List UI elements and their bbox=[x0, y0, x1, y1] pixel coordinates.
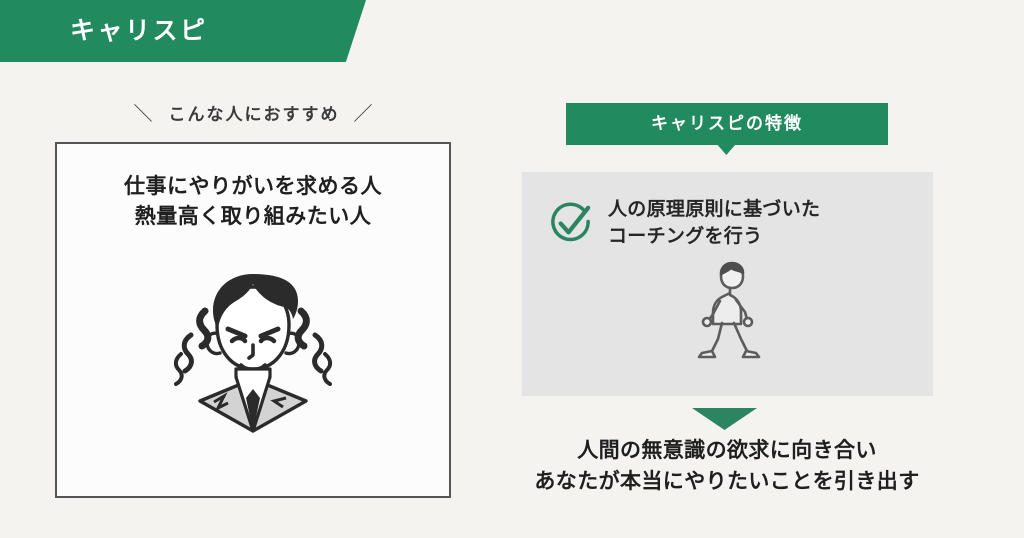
recommend-heading-label: こんな人におすすめ bbox=[169, 100, 340, 125]
circle-check-icon bbox=[547, 200, 594, 247]
closing-message: 人間の無意識の欲求に向き合い あなたが本当にやりたいことを引き出す bbox=[492, 436, 962, 497]
feature-headline: 人の原理原則に基づいた コーチングを行う bbox=[522, 172, 933, 251]
feature-line-1: 人の原理原則に基づいた bbox=[608, 197, 820, 224]
feature-text: 人の原理原則に基づいた コーチングを行う bbox=[608, 197, 820, 251]
recommend-heading: ＼ こんな人におすすめ ／ bbox=[55, 95, 453, 129]
brand-title: キャリスピ bbox=[70, 19, 208, 44]
recommend-line-1: 仕事にやりがいを求める人 bbox=[124, 172, 382, 202]
feature-banner: キャリスピの特徴 bbox=[566, 103, 888, 155]
closing-line-2: あなたが本当にやりたいことを引き出す bbox=[492, 467, 962, 498]
slash-left-decoration: ＼ bbox=[133, 99, 154, 126]
recommend-line-2: 熱量高く取り組みたい人 bbox=[124, 202, 382, 232]
fired-up-businessman-illustration bbox=[158, 249, 348, 439]
walking-person-illustration bbox=[686, 259, 770, 359]
feature-line-2: コーチングを行う bbox=[608, 224, 820, 251]
feature-banner-label: キャリスピの特徴 bbox=[651, 103, 803, 145]
recommend-section: ＼ こんな人におすすめ ／ 仕事にやりがいを求める人 熱量高く取り組みたい人 bbox=[55, 95, 453, 129]
down-arrow-icon bbox=[692, 408, 757, 430]
recommend-box: 仕事にやりがいを求める人 熱量高く取り組みたい人 bbox=[55, 142, 451, 498]
recommend-text: 仕事にやりがいを求める人 熱量高く取り組みたい人 bbox=[124, 172, 382, 233]
feature-panel: 人の原理原則に基づいた コーチングを行う bbox=[522, 172, 933, 396]
walker-container bbox=[522, 259, 933, 359]
header-banner: キャリスピ bbox=[0, 0, 366, 62]
slash-right-decoration: ／ bbox=[354, 99, 375, 126]
closing-line-1: 人間の無意識の欲求に向き合い bbox=[492, 436, 962, 467]
